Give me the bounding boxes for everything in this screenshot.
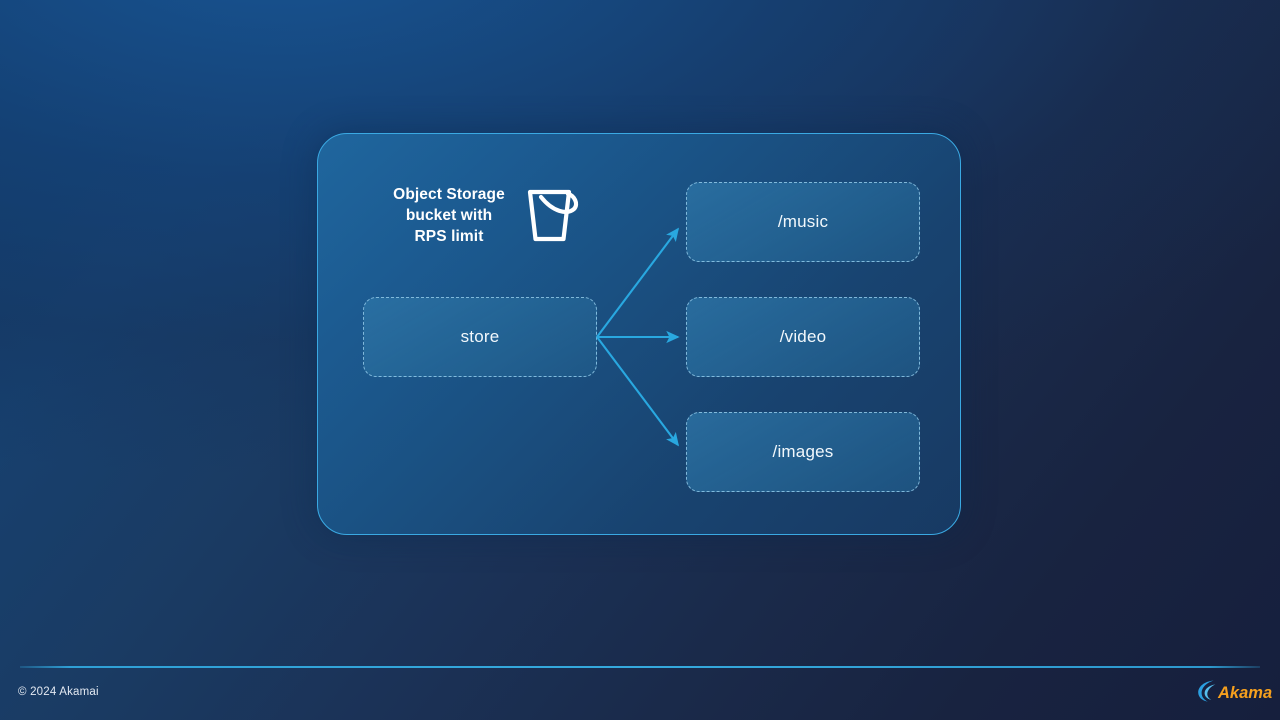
slide-canvas: Object Storage bucket with RPS limit sto… (0, 0, 1280, 720)
arrow-store-to-images (597, 337, 678, 445)
node-store-label: store (461, 327, 500, 347)
footer-divider (20, 666, 1260, 668)
copyright-text: © 2024 Akamai (18, 686, 99, 698)
arrow-store-to-music (597, 229, 678, 337)
bucket-icon (522, 182, 588, 248)
diagram-container: Object Storage bucket with RPS limit sto… (317, 133, 961, 535)
akamai-logo: Akamai (1196, 678, 1272, 704)
node-video-label: /video (780, 327, 827, 347)
bucket-heading-label: Object Storage bucket with RPS limit (375, 184, 523, 247)
node-music-label: /music (778, 212, 828, 232)
node-images[interactable]: /images (686, 412, 920, 492)
node-images-label: /images (773, 442, 834, 462)
node-store[interactable]: store (363, 297, 597, 377)
node-music[interactable]: /music (686, 182, 920, 262)
node-video[interactable]: /video (686, 297, 920, 377)
akamai-wordmark: Akamai (1217, 684, 1272, 702)
